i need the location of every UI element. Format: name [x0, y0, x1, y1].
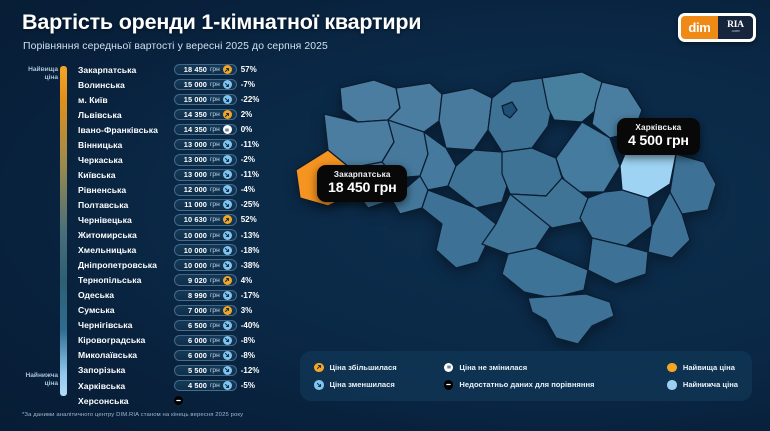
oblast-vinnytsia: [448, 150, 510, 208]
dim-ria-logo[interactable]: dim RIA .com: [678, 13, 756, 42]
arrow-up-right-icon: [223, 215, 232, 224]
region-price-pill: 13 000грн: [174, 169, 237, 180]
region-name: Миколаївська: [78, 350, 174, 360]
region-price-value: 7 000: [180, 306, 207, 315]
scale-highest-label: Найвища ціна: [0, 66, 58, 82]
callout-zakarpatska-name: Закарпатська: [328, 170, 396, 179]
region-name: Дніпропетровська: [78, 260, 174, 270]
region-name: Харківська: [78, 381, 174, 391]
callout-zakarpatska-value: 18 450 грн: [328, 180, 396, 196]
region-change-percent: -38%: [241, 261, 260, 270]
region-change-percent: -5%: [241, 381, 255, 390]
currency-label: грн: [210, 322, 220, 329]
region-price-value: 6 500: [180, 321, 207, 330]
infographic-root: Вартість оренди 1-кімнатної квартири Пор…: [0, 0, 770, 431]
region-price-pill: 8 990грн: [174, 290, 237, 301]
page-title: Вартість оренди 1-кімнатної квартири: [22, 10, 421, 35]
region-price-value: 18 450: [180, 65, 207, 74]
arrow-down-right-icon: [223, 246, 232, 255]
region-name: м. Київ: [78, 95, 174, 105]
callout-kharkivska-value: 4 500 грн: [628, 133, 689, 149]
region-name: Чернівецька: [78, 215, 174, 225]
region-price-pill: 7 000грн: [174, 305, 237, 316]
region-price-pill: 12 000грн: [174, 184, 237, 195]
region-change-percent: 4%: [241, 276, 253, 285]
legend-column-2: Ціна не зміниласяНедостатньо даних для п…: [444, 363, 632, 390]
callout-kharkivska-name: Харківська: [628, 123, 689, 132]
region-price-value: 13 000: [180, 155, 207, 164]
region-price-value: 6 000: [180, 351, 207, 360]
logo-ria-domain: .com: [731, 30, 740, 34]
region-name: Львівська: [78, 110, 174, 120]
highest-price-dot-icon: [667, 363, 677, 373]
ukraine-map: [296, 58, 766, 358]
arrow-up-right-icon: [223, 65, 232, 74]
region-row: Закарпатська18 450грн57%: [78, 62, 293, 77]
region-price-value: 13 000: [180, 140, 207, 149]
currency-label: грн: [210, 292, 220, 299]
region-row: Вінницька13 000грн-11%: [78, 137, 293, 152]
region-row: Полтавська11 000грн-25%: [78, 197, 293, 212]
region-price-pill: 9 020грн: [174, 274, 237, 285]
region-change-percent: 52%: [241, 215, 257, 224]
currency-label: грн: [210, 216, 220, 223]
region-row: Запорізька5 500грн-12%: [78, 363, 293, 378]
arrow-down-right-icon: [223, 321, 232, 330]
region-change-percent: 57%: [241, 65, 257, 74]
currency-label: грн: [210, 262, 220, 269]
region-row: м. Київ15 000грн-22%: [78, 92, 293, 107]
scale-highest-line2: ціна: [0, 74, 58, 82]
region-change-percent: -7%: [241, 80, 255, 89]
legend-item: Найвища ціна: [667, 363, 738, 373]
region-name: Київська: [78, 170, 174, 180]
region-change-percent: -40%: [241, 321, 260, 330]
lowest-price-dot-icon: [667, 380, 677, 390]
region-row: Львівська14 350грн2%: [78, 107, 293, 122]
region-price-pill: 6 000грн: [174, 350, 237, 361]
scale-highest-line1: Найвища: [0, 66, 58, 74]
region-change-percent: -25%: [241, 200, 260, 209]
region-price-pill: 6 000грн: [174, 335, 237, 346]
region-row: Черкаська13 000грн-2%: [78, 152, 293, 167]
region-row: Івано-Франківська14 350грн0%: [78, 122, 293, 137]
region-change-percent: -11%: [241, 140, 259, 149]
region-price-list: Закарпатська18 450грн57%Волинська15 000г…: [78, 62, 293, 408]
region-price-pill: 4 500грн: [174, 380, 237, 391]
region-price-value: 10 000: [180, 246, 207, 255]
arrow-down-right-icon: [223, 291, 232, 300]
region-change-percent: -12%: [241, 366, 260, 375]
legend-label: Найвища ціна: [683, 363, 735, 372]
region-row: Рівненська12 000грн-4%: [78, 182, 293, 197]
region-row: Волинська15 000грн-7%: [78, 77, 293, 92]
region-row: Херсонська: [78, 393, 293, 408]
scale-lowest-label: Найнижча ціна: [0, 372, 58, 388]
region-price-pill: 15 000грн: [174, 79, 237, 90]
arrow-down-right-icon: [223, 261, 232, 270]
legend-label: Ціна зменшилася: [330, 380, 395, 389]
region-price-pill: 10 000грн: [174, 244, 237, 255]
legend-label: Ціна збільшилася: [330, 363, 397, 372]
region-price-pill: 10 630грн: [174, 214, 237, 225]
logo-ria-block: RIA .com: [718, 16, 753, 39]
currency-label: грн: [210, 352, 220, 359]
currency-label: грн: [210, 277, 220, 284]
currency-label: грн: [210, 96, 220, 103]
currency-label: грн: [210, 156, 220, 163]
legend-item: Найнижча ціна: [667, 380, 738, 390]
pause-icon: [223, 125, 232, 134]
oblast-chernihiv: [542, 72, 602, 122]
region-row: Київська13 000грн-11%: [78, 167, 293, 182]
region-row: Кіровоградська6 000грн-8%: [78, 333, 293, 348]
region-name: Житомирська: [78, 230, 174, 240]
region-change-percent: -4%: [241, 185, 255, 194]
region-row: Чернігівська6 500грн-40%: [78, 318, 293, 333]
arrow-down-right-icon: [223, 366, 232, 375]
region-price-value: 6 000: [180, 336, 207, 345]
arrow-down-right-icon: [223, 185, 232, 194]
region-change-percent: 2%: [241, 110, 253, 119]
currency-label: грн: [210, 81, 220, 88]
region-price-value: 14 350: [180, 110, 207, 119]
region-row: Одеська8 990грн-17%: [78, 288, 293, 303]
legend-column-1: Ціна збільшиласяЦіна зменшилася: [314, 363, 444, 390]
region-name: Черкаська: [78, 155, 174, 165]
region-change-percent: -11%: [241, 170, 259, 179]
callout-zakarpatska: Закарпатська 18 450 грн: [317, 165, 407, 202]
region-name: Одеська: [78, 290, 174, 300]
legend-label: Ціна не змінилася: [459, 363, 527, 372]
region-row: Миколаївська6 000грн-8%: [78, 348, 293, 363]
currency-label: грн: [210, 337, 220, 344]
scale-lowest-line2: ціна: [0, 380, 58, 388]
region-price-value: 10 000: [180, 231, 207, 240]
region-name: Закарпатська: [78, 65, 174, 75]
footnote: *За даними аналітичного центру DIM.RIA с…: [22, 412, 243, 418]
region-change-percent: -17%: [241, 291, 260, 300]
region-row: Дніпропетровська10 000грн-38%: [78, 258, 293, 273]
region-name: Кіровоградська: [78, 335, 174, 345]
region-price-value: 12 000: [180, 185, 207, 194]
region-name: Чернігівська: [78, 320, 174, 330]
region-price-pill: [174, 395, 183, 406]
region-price-pill: 13 000грн: [174, 139, 237, 150]
no-data-icon: [444, 380, 454, 390]
region-name: Волинська: [78, 80, 174, 90]
currency-label: грн: [210, 126, 220, 133]
region-change-percent: 0%: [241, 125, 253, 134]
region-price-pill: 10 000грн: [174, 259, 237, 270]
oblast-kherson: [502, 248, 588, 298]
arrow-down-right-icon: [223, 200, 232, 209]
region-price-value: 4 500: [180, 381, 207, 390]
oblast-dnipro: [580, 190, 652, 246]
arrow-down-right-icon: [223, 336, 232, 345]
pause-icon: [444, 363, 454, 373]
region-row: Харківська4 500грн-5%: [78, 378, 293, 393]
region-row: Чернівецька10 630грн52%: [78, 212, 293, 227]
currency-label: грн: [210, 141, 220, 148]
region-price-value: 13 000: [180, 170, 207, 179]
region-price-pill: 14 350грн: [174, 124, 237, 135]
arrow-up-right-icon: [223, 276, 232, 285]
legend-item: Ціна збільшилася: [314, 363, 444, 373]
region-name: Рівненська: [78, 185, 174, 195]
currency-label: грн: [210, 111, 220, 118]
arrow-up-right-icon: [314, 363, 324, 373]
currency-label: грн: [210, 307, 220, 314]
region-change-percent: -18%: [241, 246, 260, 255]
currency-label: грн: [210, 66, 220, 73]
region-price-value: 5 500: [180, 366, 207, 375]
region-price-pill: 14 350грн: [174, 109, 237, 120]
arrow-down-right-icon: [223, 351, 232, 360]
region-price-value: 10 000: [180, 261, 207, 270]
region-price-value: 14 350: [180, 125, 207, 134]
region-change-percent: -8%: [241, 336, 255, 345]
region-name: Хмельницька: [78, 245, 174, 255]
region-price-value: 11 000: [180, 200, 207, 209]
region-price-pill: 6 500грн: [174, 320, 237, 331]
legend-item: Ціна зменшилася: [314, 380, 444, 390]
oblast-volyn: [340, 80, 400, 122]
arrow-down-right-icon: [223, 231, 232, 240]
region-row: Житомирська10 000грн-13%: [78, 228, 293, 243]
region-name: Тернопільська: [78, 275, 174, 285]
region-price-pill: 5 500грн: [174, 365, 237, 376]
logo-dim-text: dim: [681, 16, 718, 39]
currency-label: грн: [210, 186, 220, 193]
legend: Ціна збільшиласяЦіна зменшилася Ціна не …: [300, 351, 752, 401]
legend-label: Недостатньо даних для порівняння: [459, 380, 594, 389]
region-price-value: 15 000: [180, 80, 207, 89]
region-price-value: 10 630: [180, 215, 207, 224]
currency-label: грн: [210, 247, 220, 254]
currency-label: грн: [210, 201, 220, 208]
region-change-percent: -13%: [241, 231, 260, 240]
region-price-pill: 18 450грн: [174, 64, 237, 75]
arrow-down-right-icon: [314, 380, 324, 390]
legend-item: Ціна не змінилася: [444, 363, 632, 373]
scale-lowest-line1: Найнижча: [0, 372, 58, 380]
region-price-value: 9 020: [180, 276, 207, 285]
region-name: Сумська: [78, 305, 174, 315]
oblast-zhytomyr: [439, 88, 492, 150]
region-price-value: 8 990: [180, 291, 207, 300]
currency-label: грн: [210, 232, 220, 239]
arrow-down-right-icon: [223, 155, 232, 164]
legend-label: Найнижча ціна: [683, 380, 738, 389]
region-price-pill: 11 000грн: [174, 199, 237, 210]
legend-item: Недостатньо даних для порівняння: [444, 380, 632, 390]
oblast-zaporizhzhia: [588, 238, 648, 284]
arrow-up-right-icon: [223, 110, 232, 119]
price-gradient-scale: [60, 66, 67, 396]
oblast-crimea: [528, 294, 614, 344]
region-change-percent: -8%: [241, 351, 255, 360]
region-change-percent: -2%: [241, 155, 255, 164]
arrow-down-right-icon: [223, 80, 232, 89]
currency-label: грн: [210, 171, 220, 178]
region-change-percent: 3%: [241, 306, 253, 315]
no-data-icon: [174, 396, 183, 405]
arrow-down-right-icon: [223, 95, 232, 104]
region-name: Запорізька: [78, 365, 174, 375]
region-price-pill: 15 000грн: [174, 94, 237, 105]
region-name: Вінницька: [78, 140, 174, 150]
region-row: Сумська7 000грн3%: [78, 303, 293, 318]
currency-label: грн: [210, 367, 220, 374]
region-price-pill: 10 000грн: [174, 229, 237, 240]
region-price-value: 15 000: [180, 95, 207, 104]
page-subtitle: Порівняння середньої вартості у вересні …: [23, 41, 328, 52]
region-row: Тернопільська9 020грн4%: [78, 273, 293, 288]
legend-column-3: Найвища цінаНайнижча ціна: [667, 363, 738, 390]
region-name: Херсонська: [78, 396, 174, 406]
arrow-down-right-icon: [223, 381, 232, 390]
region-row: Хмельницька10 000грн-18%: [78, 243, 293, 258]
currency-label: грн: [210, 382, 220, 389]
callout-kharkivska: Харківська 4 500 грн: [617, 118, 700, 155]
region-name: Полтавська: [78, 200, 174, 210]
arrow-down-right-icon: [223, 170, 232, 179]
arrow-up-right-icon: [223, 306, 232, 315]
region-change-percent: -22%: [241, 95, 260, 104]
region-price-pill: 13 000грн: [174, 154, 237, 165]
region-name: Івано-Франківська: [78, 125, 174, 135]
arrow-down-right-icon: [223, 140, 232, 149]
